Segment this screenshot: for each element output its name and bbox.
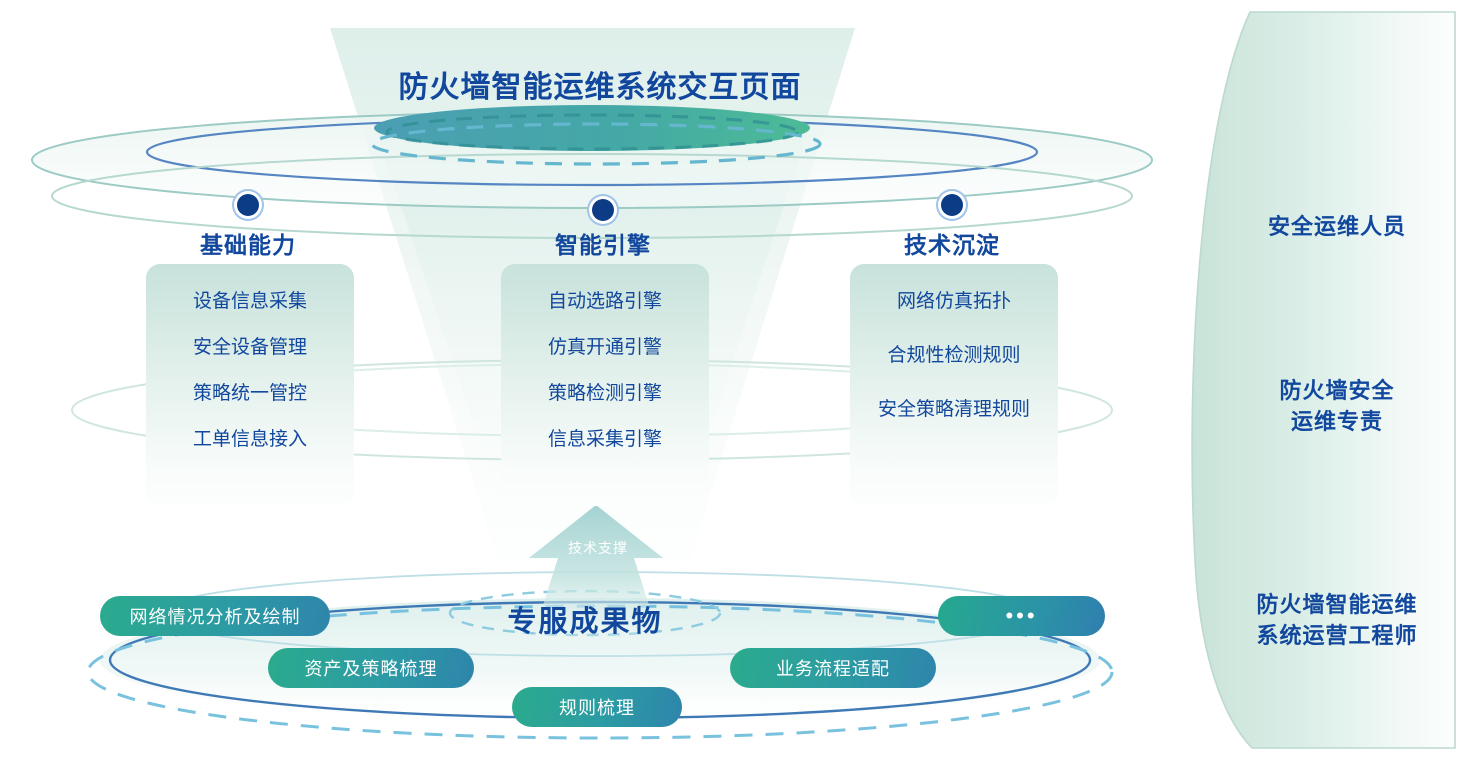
- capability-item: 安全策略清理规则: [850, 398, 1058, 422]
- capability-item: 信息采集引擎: [501, 428, 709, 452]
- capability-item: 网络仿真拓扑: [850, 290, 1058, 314]
- role-label-security-ops: 安全运维人员: [1222, 211, 1452, 242]
- bottom-section-title: 专服成果物: [455, 598, 715, 640]
- capability-card-tech: 网络仿真拓扑 合规性检测规则 安全策略清理规则: [850, 264, 1058, 506]
- deliverable-pill-business-process[interactable]: 业务流程适配: [730, 648, 936, 688]
- capability-item: 自动选路引擎: [501, 290, 709, 314]
- deliverable-pill-network-analysis[interactable]: 网络情况分析及绘制: [100, 596, 330, 636]
- deliverable-pill-more[interactable]: •••: [938, 596, 1105, 636]
- capability-item: 工单信息接入: [146, 428, 354, 452]
- node-dot-tech-accumulation: [941, 194, 963, 216]
- capability-item: 合规性检测规则: [850, 344, 1058, 368]
- capability-item: 仿真开通引警: [501, 336, 709, 360]
- roles-panel: 安全运维人员 防火墙安全运维专责 防火墙智能运维系统运营工程师: [1190, 0, 1480, 762]
- diagram-canvas: 防火墙智能运维系统交互页面 基础能力 智能引擎 技术沉淀 设备信息采集 安全设备…: [0, 0, 1480, 762]
- capability-item: 安全设备管理: [146, 336, 354, 360]
- role-label-firewall-owner: 防火墙安全运维专责: [1222, 375, 1452, 437]
- page-title: 防火墙智能运维系统交互页面: [0, 62, 1200, 106]
- node-dot-basic-capability: [237, 194, 259, 216]
- capability-item: 策略统一管控: [146, 382, 354, 406]
- capability-item: 设备信息采集: [146, 290, 354, 314]
- capability-item: 策略检测引擎: [501, 382, 709, 406]
- node-dot-intelligent-engine: [592, 199, 614, 221]
- deliverable-pill-asset-policy[interactable]: 资产及策略梳理: [268, 648, 474, 688]
- arrow-label-tech-support: 技术支撑: [543, 538, 653, 558]
- column-heading-2: 技术沉淀: [842, 226, 1062, 260]
- capability-card-engine: 自动选路引擎 仿真开通引警 策略检测引擎 信息采集引擎: [501, 264, 709, 506]
- capability-card-basic: 设备信息采集 安全设备管理 策略统一管控 工单信息接入: [146, 264, 354, 506]
- deliverable-pill-rule-sorting[interactable]: 规则梳理: [512, 687, 682, 727]
- column-heading-0: 基础能力: [138, 226, 358, 260]
- role-label-system-engineer: 防火墙智能运维系统运营工程师: [1222, 589, 1452, 651]
- column-heading-1: 智能引擎: [493, 226, 713, 260]
- ellipsis-icon: •••: [1005, 611, 1037, 621]
